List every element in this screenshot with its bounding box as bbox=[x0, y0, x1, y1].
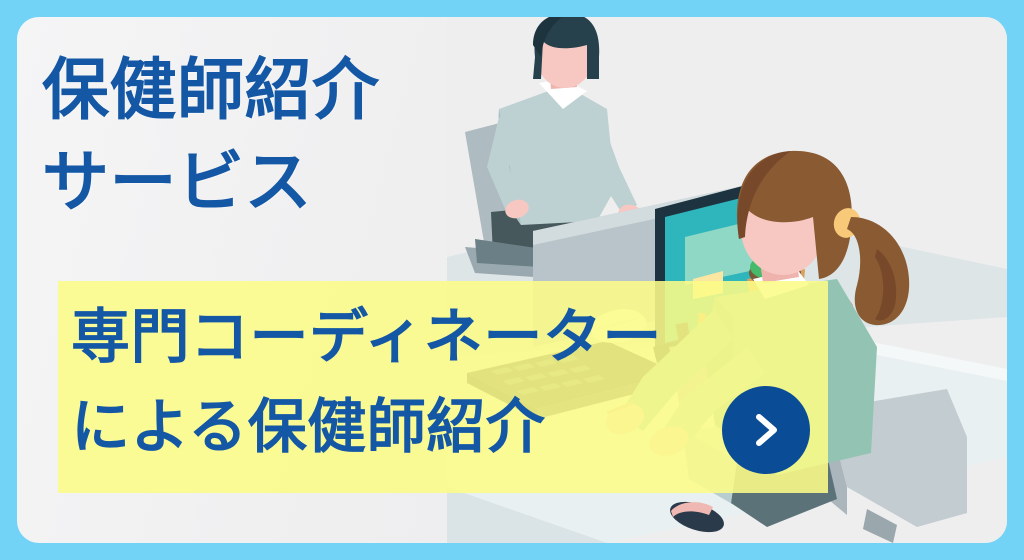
banner-card: 保健師紹介 サービス 専門コーディネーター による保健師紹介 bbox=[17, 17, 1007, 543]
chevron-right-icon bbox=[744, 408, 788, 452]
standing-woman bbox=[465, 17, 646, 279]
highlight-subtitle: 専門コーディネーター による保健師紹介 bbox=[71, 293, 771, 472]
next-arrow-button[interactable] bbox=[722, 386, 810, 474]
promo-banner: 保健師紹介 サービス 専門コーディネーター による保健師紹介 bbox=[0, 0, 1024, 560]
page-title: 保健師紹介 サービス bbox=[42, 45, 380, 230]
